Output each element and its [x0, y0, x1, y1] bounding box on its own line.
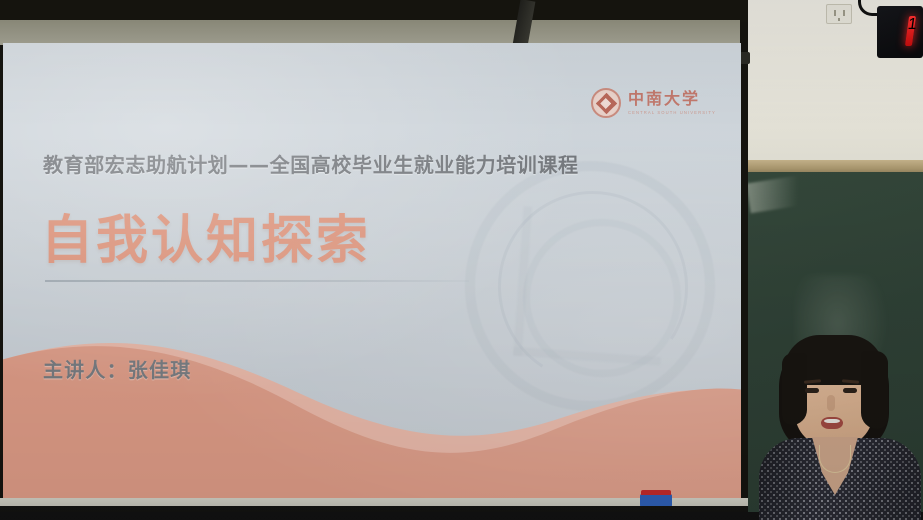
- eye-right: [843, 388, 857, 393]
- eye-left: [805, 388, 819, 393]
- lecture-photo-scene: 1 中南大学 CENTRAL SOUTH UNIVERSI: [0, 0, 923, 520]
- presenter-figure: [757, 333, 923, 520]
- wall-timer-display: [877, 6, 923, 58]
- hair-left: [782, 353, 807, 425]
- power-outlet-icon: [826, 4, 852, 24]
- seal-glyph: [596, 93, 617, 114]
- screen-side-clip: [740, 52, 750, 64]
- nose: [827, 395, 835, 411]
- presentation-slide: 中南大学 CENTRAL SOUTH UNIVERSITY 教育部宏志助航计划—…: [3, 43, 741, 498]
- university-name-en: CENTRAL SOUTH UNIVERSITY: [628, 111, 716, 115]
- screen-upper-strip: [0, 20, 740, 45]
- university-name-cn: 中南大学: [628, 91, 716, 107]
- slide-title: 自我认知探索: [41, 215, 371, 267]
- presenter-line: 主讲人：张佳琪: [43, 354, 191, 383]
- university-logo: 中南大学 CENTRAL SOUTH UNIVERSITY: [591, 84, 709, 122]
- title-divider: [45, 280, 469, 282]
- university-seal-icon: [591, 88, 621, 118]
- hair-right: [861, 351, 888, 429]
- slide-wave-front: [3, 308, 741, 498]
- screen-top-bar: [0, 0, 748, 22]
- slide-subtitle: 教育部宏志助航计划——全国高校毕业生就业能力培训课程: [43, 149, 579, 178]
- mouth: [821, 417, 843, 429]
